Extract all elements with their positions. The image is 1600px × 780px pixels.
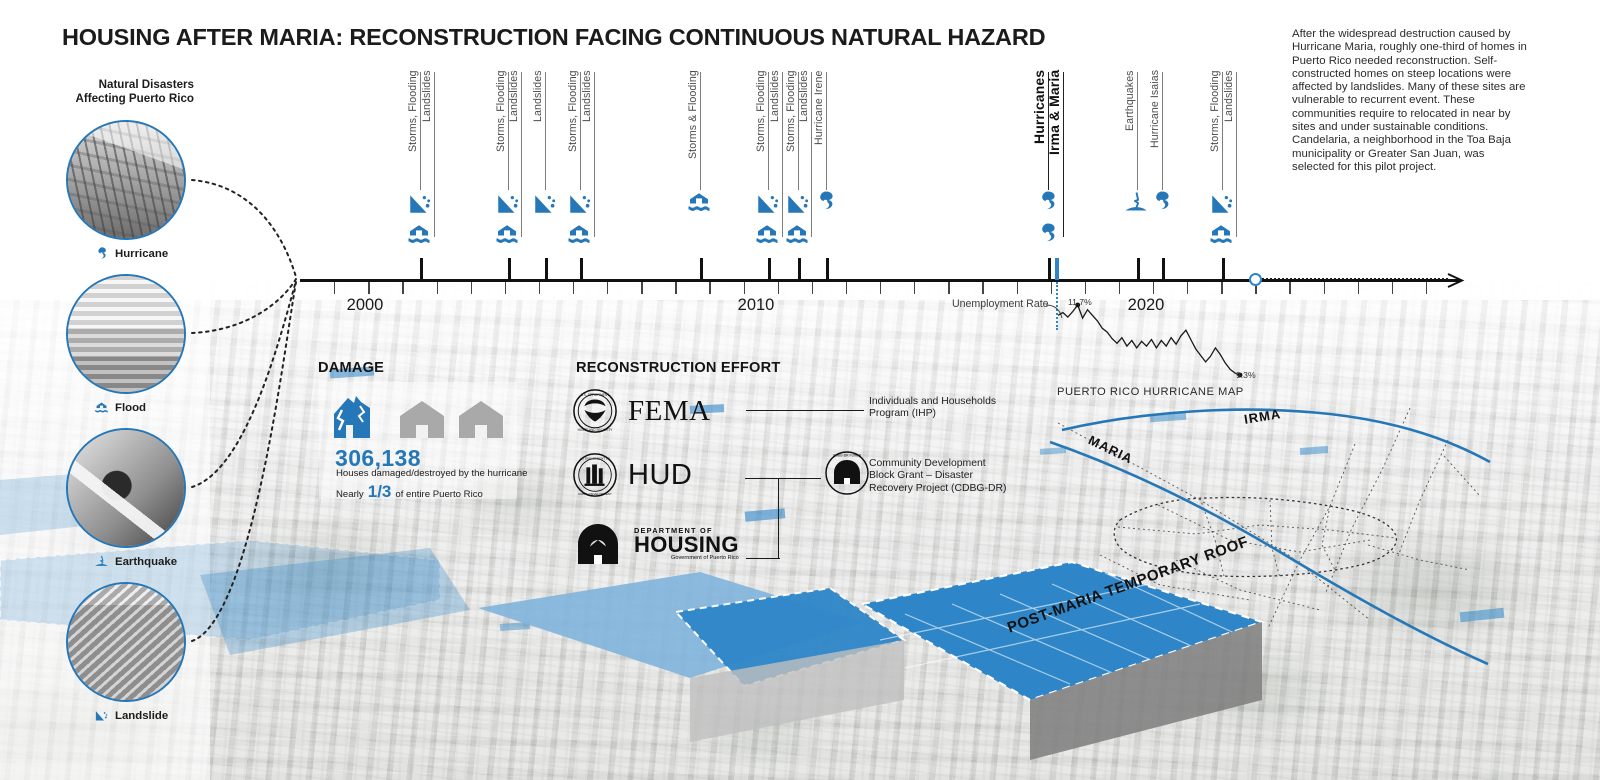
infographic-canvas: HOUSING AFTER MARIA: RECONSTRUCTION FACI… — [0, 0, 1600, 780]
post-maria-temporary-roof — [0, 0, 1600, 780]
